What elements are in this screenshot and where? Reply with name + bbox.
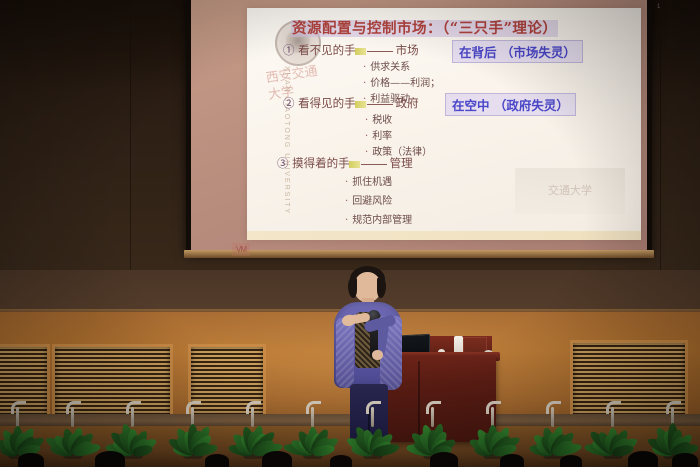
slide-bullets-3: ·抓住机遇 ·回避风险 ·规范内部管理: [345, 173, 412, 230]
dash-connector: [367, 104, 393, 105]
dash-connector: [367, 51, 393, 52]
bullet-item: 价格——利润；: [370, 78, 440, 89]
potted-plant: [465, 411, 521, 453]
section-target: 管理: [390, 156, 413, 170]
screen-watermark: VM: [232, 243, 250, 256]
section-target: 政府: [396, 96, 419, 110]
potted-plant: [165, 411, 221, 453]
slide-ghost-watermark: 交通大学: [515, 168, 625, 214]
slide-title-text: 资源配置与控制市场：（“三只手”理论）: [291, 20, 558, 37]
audience-head: [95, 451, 125, 467]
highlight-box-2: 在空中 （政府失灵）: [445, 93, 576, 116]
lecture-hall-photo: VM 1 西安交通大学 XI'AN JIAOTONG UNIVERSITY 交通…: [0, 0, 700, 467]
audience-head: [628, 451, 658, 467]
bullet-item: 抓住机遇: [352, 177, 392, 188]
potted-plant: [45, 411, 101, 453]
potted-plant: [225, 411, 281, 453]
projection-screen-bottom-bar: [184, 250, 654, 258]
slide-page-number: 1: [657, 4, 660, 10]
potted-plant: [645, 411, 700, 453]
section-heading: 看不见的手: [298, 43, 356, 57]
potted-plant: [105, 411, 161, 453]
hand-marker-icon: [349, 161, 360, 168]
slide-bullets-2: ·税收 ·利率 ·政策（法律）: [365, 113, 432, 161]
audience-head: [205, 454, 229, 467]
university-watermark-en: XI'AN JIAOTONG UNIVERSITY: [283, 66, 290, 216]
section-target: 市场: [396, 43, 419, 57]
speaker-hair-right: [377, 278, 386, 298]
slide-section-3: ③ 摸得着的手管理: [277, 155, 413, 171]
audience-head: [430, 452, 458, 467]
bullet-item: 回避风险: [352, 196, 392, 207]
section-heading: 看得见的手: [298, 96, 356, 110]
slide-section-2: ② 看得见的手政府: [283, 95, 419, 111]
hand-marker-icon: [355, 48, 366, 55]
audience-head: [560, 455, 582, 467]
audience-head: [500, 454, 524, 467]
slide-title: 资源配置与控制市场：（“三只手”理论）: [291, 17, 633, 38]
bullet-item: 税收: [372, 115, 392, 126]
speaker-cardigan-lace-left: [336, 318, 354, 388]
slide-footer-bar: [247, 231, 641, 240]
slide-section-1: ① 看不见的手市场: [283, 42, 419, 58]
section-number: ③: [277, 156, 289, 170]
section-number: ①: [283, 43, 295, 57]
speaker-hair-left: [348, 278, 357, 298]
potted-plant: [285, 411, 341, 453]
presentation-slide: 西安交通大学 XI'AN JIAOTONG UNIVERSITY 交通大学 资源…: [247, 8, 641, 240]
bullet-item: 利率: [372, 131, 392, 142]
audience-head: [672, 453, 698, 467]
potted-plant: [405, 411, 461, 453]
audience-head: [330, 455, 352, 467]
section-heading: 摸得着的手: [292, 156, 350, 170]
hand-marker-icon: [355, 101, 366, 108]
audience-head: [18, 453, 44, 467]
audience-head: [262, 451, 292, 467]
section-number: ②: [283, 96, 295, 110]
bullet-item: 供求关系: [370, 62, 410, 73]
highlight-box-1: 在背后 （市场失灵）: [452, 40, 583, 63]
speaker-right-hand: [372, 350, 383, 360]
potted-plant: [585, 411, 641, 453]
potted-plant: [525, 411, 581, 453]
potted-plant: [0, 411, 46, 453]
dash-connector: [361, 164, 387, 165]
bullet-item: 规范内部管理: [352, 215, 412, 226]
university-watermark-cn: 西安交通大学: [265, 63, 333, 162]
potted-plant: [345, 411, 401, 453]
